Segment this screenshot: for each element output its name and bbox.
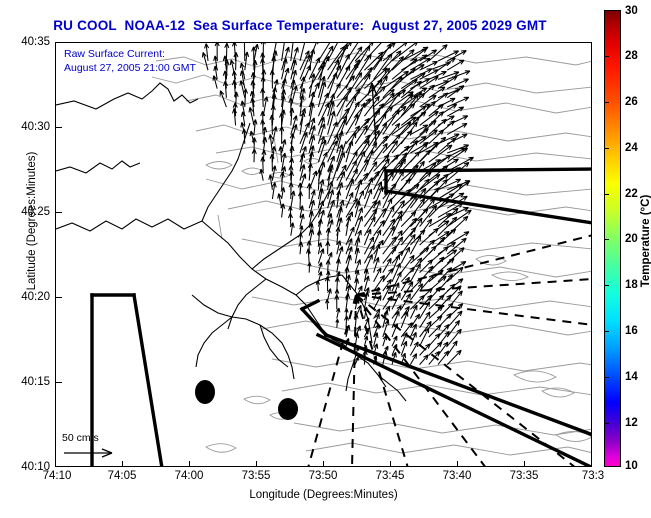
colorbar-tick-label: 22 — [625, 188, 638, 200]
figure-title: RU COOL NOAA-12 Sea Surface Temperature:… — [0, 18, 600, 33]
scale-bar: 50 cm/s — [62, 432, 122, 463]
xtickmark — [189, 461, 190, 467]
xtick-label: 73:45 — [376, 470, 405, 482]
colorbar-tick-label: 30 — [625, 5, 638, 17]
station-markers — [195, 380, 298, 420]
ytick-label: 40:35 — [2, 36, 50, 48]
colorbar-tick-label: 14 — [625, 371, 638, 383]
xtickmark — [457, 461, 458, 467]
station-marker-east — [278, 398, 298, 420]
colorbar-tick-label: 10 — [625, 460, 638, 472]
xtick-label: 74:00 — [175, 470, 204, 482]
surface-current-vectors — [202, 43, 473, 365]
scale-bar-arrow-icon — [62, 444, 122, 460]
xtickmark — [323, 461, 324, 467]
colorbar-tick-label: 18 — [625, 279, 638, 291]
xtickmark — [256, 461, 257, 467]
colorbar-tick-label: 16 — [625, 325, 638, 337]
x-axis-label: Longitude (Degrees:Minutes) — [55, 489, 592, 501]
ytickmark — [56, 212, 62, 213]
colorbar-tick-label: 26 — [625, 96, 638, 108]
map-plot-area: Raw Surface Current: August 27, 2005 21:… — [55, 42, 592, 467]
sst-surface-current-figure: RU COOL NOAA-12 Sea Surface Temperature:… — [0, 0, 651, 518]
ytickmark — [56, 382, 62, 383]
map-graphics — [56, 43, 592, 467]
ytickmark — [56, 297, 62, 298]
xtickmark — [390, 461, 391, 467]
xtick-label: 74:05 — [108, 470, 137, 482]
xtickmark — [524, 461, 525, 467]
ytick-label: 40:15 — [2, 376, 50, 388]
colorbar-tick-label: 20 — [625, 233, 638, 245]
xtick-label: 73:55 — [242, 470, 271, 482]
colorbar-tick-label: 12 — [625, 417, 638, 429]
colorbar-tick-label: 24 — [625, 142, 638, 154]
xtickmark — [122, 461, 123, 467]
xtick-label: 73:35 — [510, 470, 539, 482]
ytickmark — [56, 127, 62, 128]
y-axis-label: Latitude (Degrees:Minutes) — [26, 101, 38, 341]
sst-contour-lines — [152, 53, 592, 455]
xtick-label: 73:3 — [582, 470, 604, 482]
colorbar-tick-label: 28 — [625, 50, 638, 62]
xtick-label: 73:50 — [309, 470, 338, 482]
xtick-label: 73:40 — [443, 470, 472, 482]
colorbar-axis-label: Temperature (°C) — [640, 171, 651, 311]
station-marker-west — [195, 380, 215, 404]
ytick-label: 40:10 — [2, 461, 50, 473]
scale-bar-label: 50 cm/s — [62, 432, 122, 444]
